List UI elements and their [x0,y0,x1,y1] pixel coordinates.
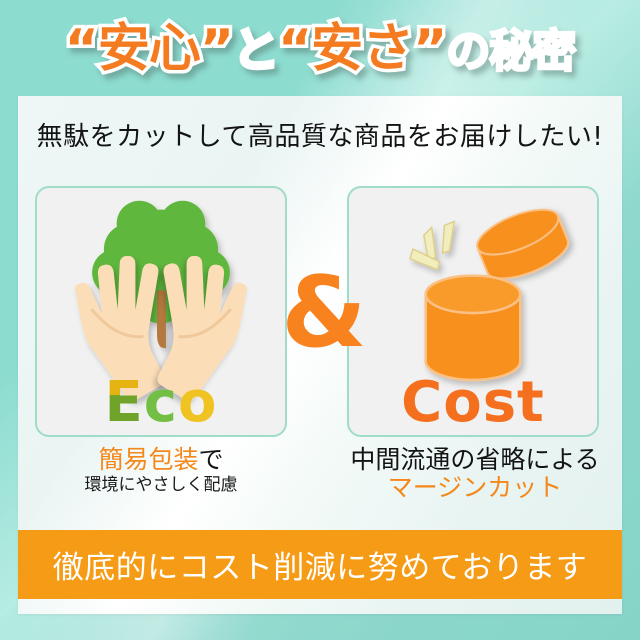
caption-cost: 中間流通の省略による マージンカット [330,446,620,502]
headline-text: “安心”と“安さ”の秘密 [65,23,576,75]
eco-letter-c: c [144,370,178,435]
eco-letter-o: o [178,370,217,435]
headline-part-anshin: “安心” [65,19,233,79]
caption-cost-line1: 中間流通の省略による [330,446,620,474]
panel-cost: Cost [347,186,599,437]
ampersand: & [274,264,374,362]
headline-part-yasusa: “安さ” [278,19,446,79]
eco-wordmark: Eco [37,375,285,431]
caption-eco: 簡易包装で 環境にやさしく配慮 [18,446,306,496]
caption-eco-line2: 環境にやさしく配慮 [18,474,306,496]
content-card: 無駄をカットして高品質な商品をお届けしたい! [18,96,622,614]
bottom-banner-text: 徹底的にコスト削減に努めております [53,542,588,587]
cost-wordmark: Cost [349,375,597,431]
headline-part-himitsu: の秘密 [446,26,575,77]
subtitle: 無駄をカットして高品質な商品をお届けしたい! [18,116,622,153]
bottom-banner: 徹底的にコスト削減に努めております [18,530,622,599]
eco-letter-e: E [105,370,144,435]
caption-eco-line1: 簡易包装で [18,446,306,474]
caption-cost-line2: マージンカット [330,474,620,502]
panel-eco: Eco [35,186,287,437]
headline-part-to: と [233,23,278,77]
promo-poster: “安心”と“安さ”の秘密 無駄をカットして高品質な商品をお届けしたい! [0,0,640,640]
caption-eco-line1-suffix: で [199,445,224,474]
headline: “安心”と“安さ”の秘密 [0,6,640,92]
caption-eco-line1-highlight: 簡易包装 [98,445,198,474]
